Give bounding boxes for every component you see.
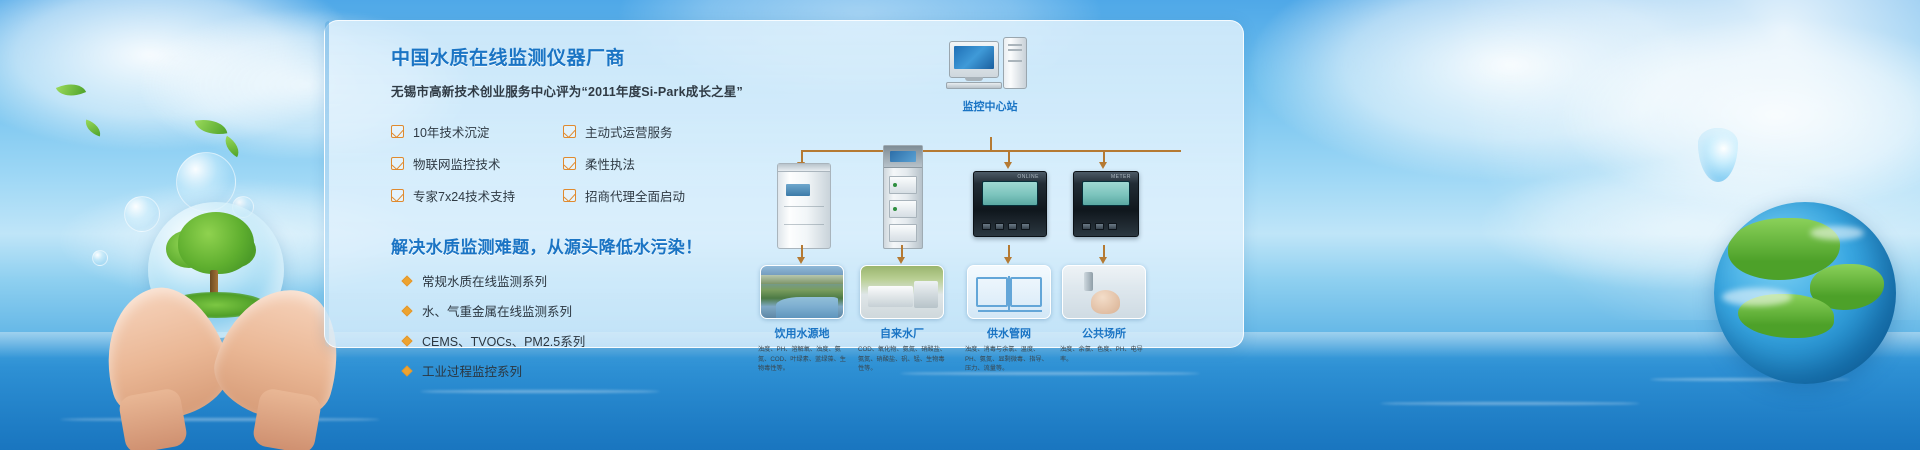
checkbox-icon bbox=[563, 125, 576, 138]
feature-item[interactable]: 招商代理全面启动 bbox=[563, 186, 735, 205]
scene-card[interactable]: 公共场所 浊度、余氯、色度、PH、电导率。 bbox=[1058, 265, 1150, 364]
device-row: ONLINE METER bbox=[755, 163, 1225, 253]
white-cabinet-analyzer-icon[interactable] bbox=[777, 163, 831, 249]
checkbox-icon bbox=[563, 157, 576, 170]
diamond-bullet-icon bbox=[401, 305, 412, 316]
scene-card[interactable]: 饮用水源地 浊度、PH、溶解氧、浊度、氨氮、COD、叶绿素、蓝绿藻、生物毒性等。 bbox=[756, 265, 848, 374]
list-item-label: CEMS、TVOCs、PM2.5系列 bbox=[422, 331, 585, 350]
diamond-bullet-icon bbox=[401, 365, 412, 376]
feature-item[interactable]: 物联网监控技术 bbox=[391, 154, 563, 173]
feature-checklist: 10年技术沉淀 主动式运营服务 物联网监控技术 柔性执法 专家7x24技术支持 … bbox=[391, 122, 751, 205]
diamond-bullet-icon bbox=[401, 335, 412, 346]
feature-item[interactable]: 主动式运营服务 bbox=[563, 122, 735, 141]
arrow-down-icon bbox=[897, 257, 905, 264]
diamond-bullet-icon bbox=[401, 275, 412, 286]
black-controller-narrow-icon[interactable]: METER bbox=[1073, 171, 1139, 237]
list-item[interactable]: 水、气重金属在线监测系列 bbox=[391, 301, 751, 320]
feature-label: 主动式运营服务 bbox=[585, 122, 673, 141]
feature-label: 10年技术沉淀 bbox=[413, 122, 489, 141]
scene-title: 自来水厂 bbox=[856, 325, 948, 341]
list-item[interactable]: 常规水质在线监测系列 bbox=[391, 271, 751, 290]
monitoring-topology-diagram: 监控中心站 bbox=[755, 33, 1225, 343]
tap-handwash-photo bbox=[1062, 265, 1146, 319]
checkbox-icon bbox=[563, 189, 576, 202]
scene-description: 浊度、PH、溶解氧、浊度、氨氮、COD、叶绿素、蓝绿藻、生物毒性等。 bbox=[756, 345, 848, 374]
list-item-label: 工业过程监控系列 bbox=[422, 361, 522, 380]
feature-label: 物联网监控技术 bbox=[413, 154, 501, 173]
water-plant-photo bbox=[860, 265, 944, 319]
scene-title: 供水管网 bbox=[963, 325, 1055, 341]
checkbox-icon bbox=[391, 157, 404, 170]
scene-card[interactable]: 自来水厂 COD、氧化物、氨氮、硝酸盐、氨氮、硝酸盐、矾、锰、生物毒性等。 bbox=[856, 265, 948, 374]
list-item[interactable]: CEMS、TVOCs、PM2.5系列 bbox=[391, 331, 751, 350]
device-to-scene-arrows bbox=[755, 245, 1225, 267]
section-heading: 解决水质监测难题，从源头降低水污染！ bbox=[391, 233, 751, 258]
feature-label: 柔性执法 bbox=[585, 154, 635, 173]
scene-card[interactable]: 供水管网 浊度、消毒与余氯、温度、PH、氨氮、显剩微毒、指导、压力、流量等。 bbox=[963, 265, 1055, 374]
scene-title: 饮用水源地 bbox=[756, 325, 848, 341]
connector-line bbox=[801, 150, 1181, 152]
scene-title: 公共场所 bbox=[1058, 325, 1150, 341]
page-subtitle: 无锡市高新技术创业服务中心评为“2011年度Si-Park成长之星” bbox=[391, 81, 751, 100]
computer-workstation-icon bbox=[949, 39, 1031, 91]
monitoring-center-label: 监控中心站 bbox=[943, 98, 1037, 114]
feature-item[interactable]: 10年技术沉淀 bbox=[391, 122, 563, 141]
feature-item[interactable]: 柔性执法 bbox=[563, 154, 735, 173]
green-earth-globe-icon bbox=[1714, 202, 1896, 384]
checkbox-icon bbox=[391, 125, 404, 138]
grey-rack-analyzer-icon[interactable] bbox=[883, 145, 923, 249]
monitoring-center-node[interactable]: 监控中心站 bbox=[943, 39, 1037, 114]
feature-label: 专家7x24技术支持 bbox=[413, 186, 515, 205]
page-title: 中国水质在线监测仪器厂商 bbox=[391, 43, 751, 70]
black-controller-wide-icon[interactable]: ONLINE bbox=[973, 171, 1047, 237]
arrow-down-icon bbox=[1004, 257, 1012, 264]
scene-description: 浊度、余氯、色度、PH、电导率。 bbox=[1058, 345, 1150, 364]
river-mountain-photo bbox=[760, 265, 844, 319]
scene-description: COD、氧化物、氨氮、硝酸盐、氨氮、硝酸盐、矾、锰、生物毒性等。 bbox=[856, 345, 948, 374]
list-item[interactable]: 工业过程监控系列 bbox=[391, 361, 751, 380]
pipe-network-diagram bbox=[967, 265, 1051, 319]
arrow-down-icon bbox=[797, 257, 805, 264]
content-panel: 中国水质在线监测仪器厂商 无锡市高新技术创业服务中心评为“2011年度Si-Pa… bbox=[324, 20, 1244, 348]
checkbox-icon bbox=[391, 189, 404, 202]
product-series-list: 常规水质在线监测系列 水、气重金属在线监测系列 CEMS、TVOCs、PM2.5… bbox=[391, 271, 751, 380]
left-text-column: 中国水质在线监测仪器厂商 无锡市高新技术创业服务中心评为“2011年度Si-Pa… bbox=[391, 43, 751, 380]
arrow-down-icon bbox=[1099, 257, 1107, 264]
list-item-label: 常规水质在线监测系列 bbox=[422, 271, 547, 290]
feature-item[interactable]: 专家7x24技术支持 bbox=[391, 186, 563, 205]
list-item-label: 水、气重金属在线监测系列 bbox=[422, 301, 572, 320]
connector-line bbox=[990, 137, 992, 151]
scene-description: 浊度、消毒与余氯、温度、PH、氨氮、显剩微毒、指导、压力、流量等。 bbox=[963, 345, 1055, 374]
feature-label: 招商代理全面启动 bbox=[585, 186, 685, 205]
